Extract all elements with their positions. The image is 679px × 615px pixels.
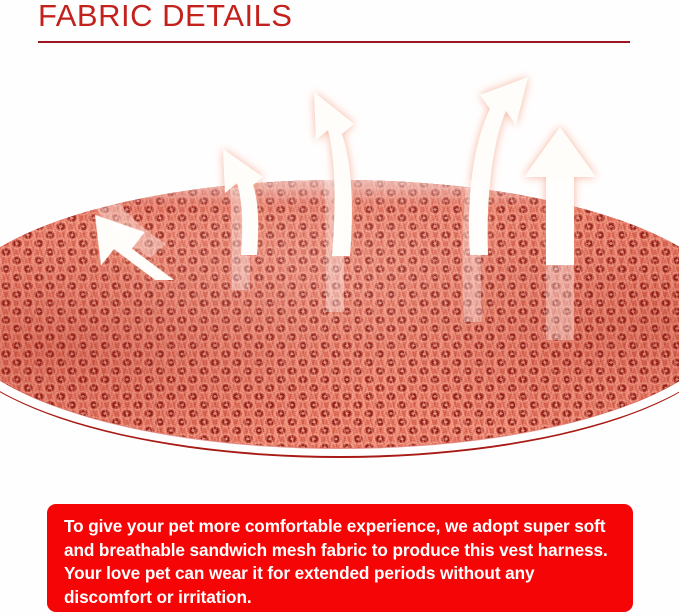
description-text: To give your pet more comfortable experi…	[64, 515, 617, 609]
page-title: FABRIC DETAILS	[38, 0, 293, 34]
mesh-fabric-ellipse	[0, 180, 679, 448]
description-box: To give your pet more comfortable experi…	[47, 504, 633, 612]
mesh-grain-layer	[0, 180, 679, 448]
fabric-swatch	[0, 180, 679, 448]
fabric-details-page: FABRIC DETAILS	[0, 0, 679, 615]
title-divider	[38, 41, 630, 43]
